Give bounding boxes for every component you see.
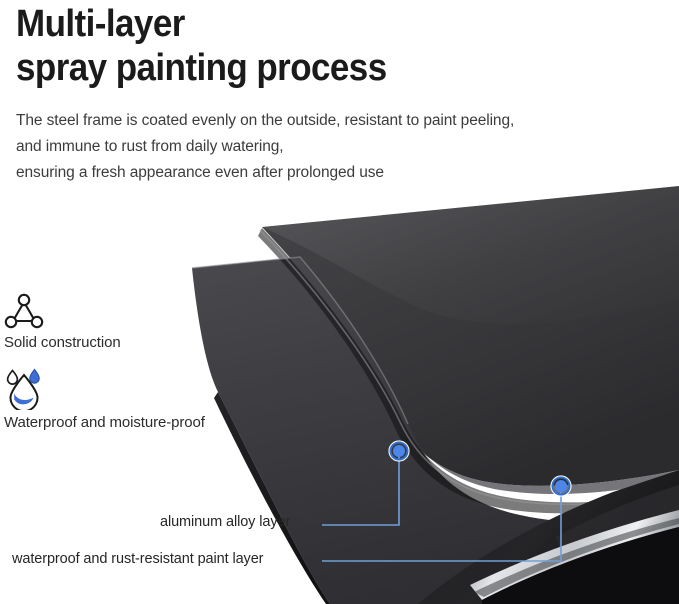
triangle-nodes-icon bbox=[4, 291, 44, 336]
feature-label: Waterproof and moisture-proof bbox=[4, 414, 205, 431]
feature-label: Solid construction bbox=[4, 334, 121, 351]
product-feature-graphic: Multi-layer spray painting process The s… bbox=[0, 0, 679, 604]
multi-layer-panel-illustration bbox=[0, 0, 679, 604]
callout-label-aluminum-alloy-layer: aluminum alloy layer bbox=[160, 514, 290, 530]
callout-label-paint-layer: waterproof and rust-resistant paint laye… bbox=[12, 551, 263, 567]
page-title: Multi-layer spray painting process bbox=[16, 2, 387, 90]
page-subcopy: The steel frame is coated evenly on the … bbox=[16, 108, 514, 186]
water-droplet-icon bbox=[4, 368, 48, 415]
